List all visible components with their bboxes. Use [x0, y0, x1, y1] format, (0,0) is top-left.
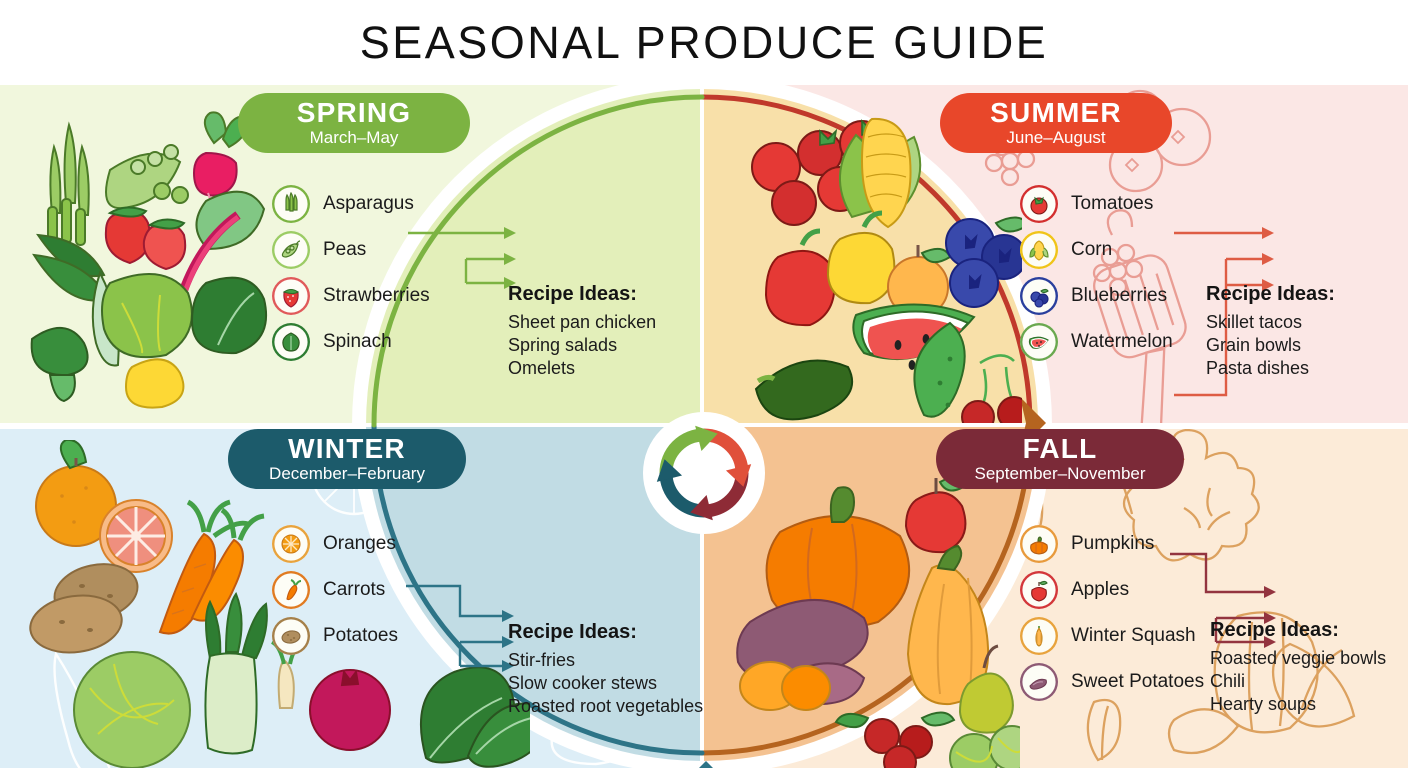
- blueberry-icon: [1020, 277, 1058, 315]
- legend-label: Oranges: [323, 533, 396, 555]
- recipe-heading: Recipe Ideas:: [1206, 283, 1401, 306]
- recipe-heading: Recipe Ideas:: [1210, 619, 1408, 642]
- winter-produce-illustration: [14, 440, 314, 768]
- season-pill-winter[interactable]: WINTER December–February: [228, 429, 466, 489]
- legend-label: Potatoes: [323, 625, 398, 647]
- produce-legend-summer: Tomatoes Corn Bluebe: [1020, 181, 1173, 365]
- recipe-heading: Recipe Ideas:: [508, 621, 708, 644]
- apple-icon: [1020, 571, 1058, 609]
- seasonal-produce-poster: SEASONAL PRODUCE GUIDE: [0, 0, 1408, 768]
- cycle-hub: [648, 417, 760, 529]
- recipe-item: Roasted root vegetables: [508, 695, 708, 718]
- season-name-winter: WINTER: [288, 434, 406, 463]
- recipes-spring: Recipe Ideas: Sheet pan chicken Spring s…: [508, 283, 718, 380]
- legend-label: Peas: [323, 239, 366, 261]
- legend-label: Pumpkins: [1071, 533, 1154, 555]
- recipe-item: Omelets: [508, 357, 718, 380]
- recipe-item: Hearty soups: [1210, 693, 1408, 716]
- season-name-summer: SUMMER: [990, 98, 1122, 127]
- strawberry-icon: [272, 277, 310, 315]
- recipe-item: Chili: [1210, 670, 1408, 693]
- season-pill-summer[interactable]: SUMMER June–August: [940, 93, 1172, 153]
- season-months-spring: March–May: [310, 128, 399, 148]
- season-name-fall: FALL: [1023, 434, 1098, 463]
- recipe-item: Stir-fries: [508, 649, 708, 672]
- pumpkin-icon: [1020, 525, 1058, 563]
- orange-icon: [272, 525, 310, 563]
- spinach-icon: [272, 323, 310, 361]
- cycle-arrows-icon: [648, 417, 760, 529]
- sweet-potato-icon: [1020, 663, 1058, 701]
- legend-item[interactable]: Pumpkins: [1020, 521, 1204, 567]
- recipe-item: Spring salads: [508, 334, 718, 357]
- page-title: SEASONAL PRODUCE GUIDE: [360, 17, 1048, 69]
- potato-icon: [272, 617, 310, 655]
- season-name-spring: SPRING: [297, 98, 412, 127]
- watermelon-icon: [1020, 323, 1058, 361]
- legend-item[interactable]: Asparagus: [272, 181, 430, 227]
- legend-item[interactable]: Apples: [1020, 567, 1204, 613]
- tomato-icon: [1020, 185, 1058, 223]
- legend-label: Winter Squash: [1071, 625, 1196, 647]
- legend-item[interactable]: Watermelon: [1020, 319, 1173, 365]
- season-months-summer: June–August: [1006, 128, 1105, 148]
- legend-item[interactable]: Tomatoes: [1020, 181, 1173, 227]
- produce-legend-fall: Pumpkins Apples Wint: [1020, 521, 1204, 705]
- legend-item[interactable]: Winter Squash: [1020, 613, 1204, 659]
- recipe-item: Skillet tacos: [1206, 311, 1401, 334]
- winter-recipe-connectors: [404, 582, 524, 682]
- legend-label: Tomatoes: [1071, 193, 1153, 215]
- produce-legend-spring: Asparagus Peas: [272, 181, 430, 365]
- legend-label: Asparagus: [323, 193, 414, 215]
- legend-label: Sweet Potatoes: [1071, 671, 1204, 693]
- squash-icon: [1020, 617, 1058, 655]
- recipe-item: Pasta dishes: [1206, 357, 1401, 380]
- carrot-icon: [272, 571, 310, 609]
- legend-item[interactable]: Sweet Potatoes: [1020, 659, 1204, 705]
- recipe-item: Slow cooker stews: [508, 672, 708, 695]
- season-pill-spring[interactable]: SPRING March–May: [238, 93, 470, 153]
- legend-label: Apples: [1071, 579, 1129, 601]
- recipe-item: Sheet pan chicken: [508, 311, 718, 334]
- recipes-winter: Recipe Ideas: Stir-fries Slow cooker ste…: [508, 621, 708, 718]
- legend-item[interactable]: Spinach: [272, 319, 430, 365]
- legend-label: Carrots: [323, 579, 385, 601]
- recipes-fall: Recipe Ideas: Roasted veggie bowls Chili…: [1210, 619, 1408, 716]
- asparagus-icon: [272, 185, 310, 223]
- legend-item[interactable]: Blueberries: [1020, 273, 1173, 319]
- legend-label: Spinach: [323, 331, 392, 353]
- legend-item[interactable]: Potatoes: [272, 613, 398, 659]
- corn-icon: [1020, 231, 1058, 269]
- season-pill-fall[interactable]: FALL September–November: [936, 429, 1184, 489]
- legend-item[interactable]: Oranges: [272, 521, 398, 567]
- legend-item[interactable]: Peas: [272, 227, 430, 273]
- legend-item[interactable]: Corn: [1020, 227, 1173, 273]
- legend-label: Strawberries: [323, 285, 430, 307]
- season-months-winter: December–February: [269, 464, 425, 484]
- legend-label: Blueberries: [1071, 285, 1167, 307]
- recipe-item: Roasted veggie bowls: [1210, 647, 1408, 670]
- season-quadrants: SPRING March–May SUMMER June–August WINT…: [0, 85, 1408, 768]
- peas-icon: [272, 231, 310, 269]
- legend-item[interactable]: Carrots: [272, 567, 398, 613]
- recipes-summer: Recipe Ideas: Skillet tacos Grain bowls …: [1206, 283, 1401, 380]
- poster-header: SEASONAL PRODUCE GUIDE: [0, 0, 1408, 85]
- recipe-heading: Recipe Ideas:: [508, 283, 718, 306]
- legend-item[interactable]: Strawberries: [272, 273, 430, 319]
- legend-label: Corn: [1071, 239, 1112, 261]
- spring-produce-illustration: [10, 95, 270, 415]
- season-months-fall: September–November: [974, 464, 1145, 484]
- produce-legend-winter: Oranges Carrots Po: [272, 521, 398, 659]
- recipe-item: Grain bowls: [1206, 334, 1401, 357]
- legend-label: Watermelon: [1071, 331, 1173, 353]
